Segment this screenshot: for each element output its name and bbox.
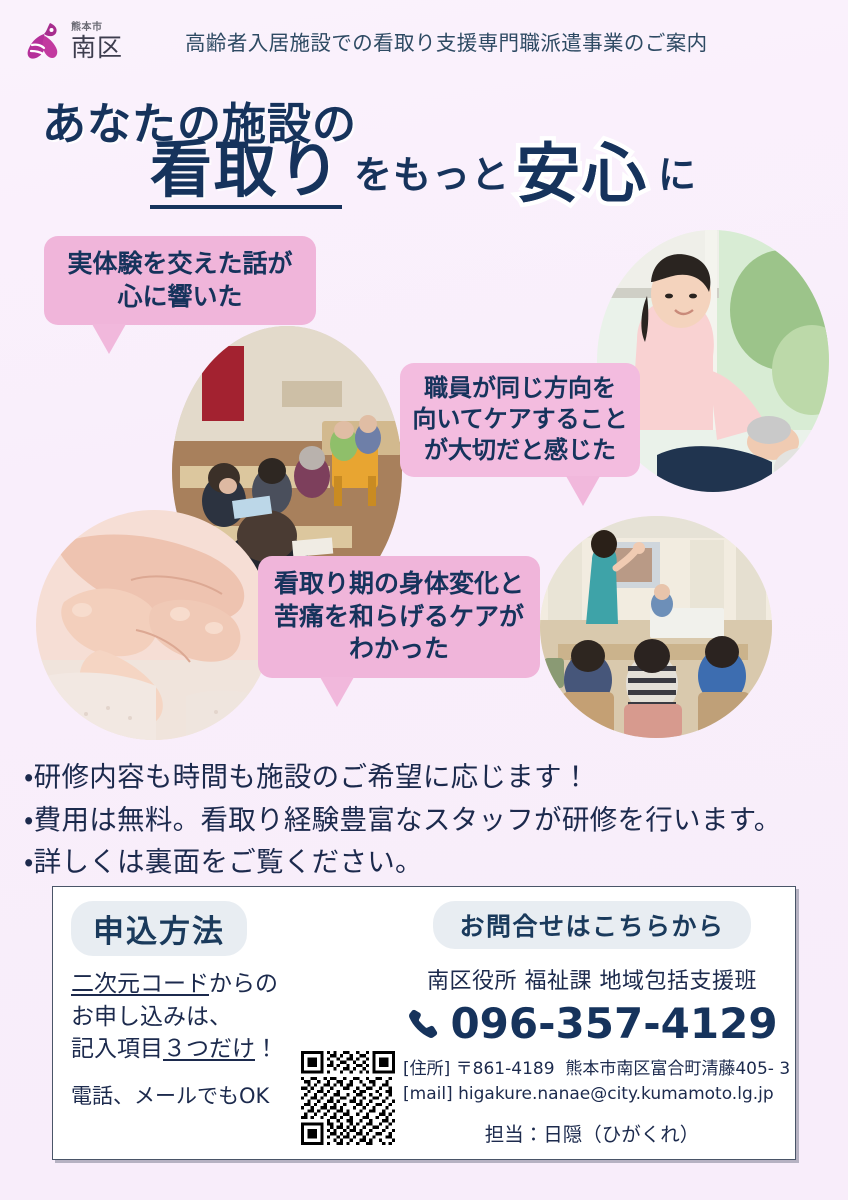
- address-line: [住所] 〒861-4189 熊本市南区富合町清藤405- 3: [403, 1057, 783, 1082]
- testimonial-bubble-1: 実体験を交えた話が 心に響いた: [44, 236, 316, 325]
- mail-label: [mail]: [403, 1084, 453, 1104]
- application-line-1: 二次元コードからの: [71, 968, 371, 1001]
- testimonial-text-2: 職員が同じ方向を 向いてケアすること が大切だと感じた: [412, 374, 627, 464]
- poster-header: 熊本市 南区 高齢者入居施設での看取り支援専門職派遣事業のご案内: [0, 0, 848, 82]
- bubble-tail-1: [92, 324, 126, 354]
- application-line-1-rest: からの: [209, 971, 278, 997]
- qr-code-icon: [300, 1051, 396, 1145]
- header-title: 高齢者入居施設での看取り支援専門職派遣事業のご案内: [185, 26, 708, 56]
- testimonial-bubble-3: 看取り期の身体変化と 苦痛を和らげるケアが わかった: [258, 556, 540, 678]
- benefit-item-3: ・詳しくは裏面をご覧ください。: [24, 841, 834, 884]
- testimonial-text-1: 実体験を交えた話が 心に響いた: [67, 249, 292, 311]
- email-address[interactable]: higakure.nanae@city.kumamoto.lg.jp: [458, 1084, 774, 1104]
- logo-ward-label: 南区: [71, 35, 123, 60]
- poster-root: 熊本市 南区 高齢者入居施設での看取り支援専門職派遣事業のご案内 あなたの施設の…: [0, 0, 848, 1200]
- headline-emphasis-mitori: 看取り: [150, 139, 342, 209]
- application-line-2: お申し込みは、: [71, 1001, 371, 1034]
- benefit-item-1: ・研修内容も時間も施設のご希望に応じます！: [24, 756, 834, 799]
- application-line-3-prefix: 記入項目: [71, 1036, 163, 1062]
- bubble-tail-3: [320, 677, 354, 707]
- photo-collage: 実体験を交えた話が 心に響いた 職員が同じ方向を 向いてケアすること が大切だと…: [0, 228, 848, 748]
- photo-lecture: [540, 516, 772, 738]
- headline-suffix: に: [658, 144, 696, 199]
- application-line-3-suffix: ！: [255, 1036, 278, 1062]
- benefit-item-2: ・費用は無料。看取り経験豊富なスタッフが研修を行います。: [24, 799, 834, 842]
- contact-department: 南区役所 福祉課 地域包括支援班: [401, 963, 783, 995]
- kumamoto-minami-ward-logo-icon: [22, 19, 64, 63]
- benefits-list: ・研修内容も時間も施設のご希望に応じます！ ・費用は無料。看取り経験豊富なスタッ…: [24, 756, 834, 884]
- postal-code: 〒861-4189: [456, 1059, 555, 1079]
- logo-city-label: 熊本市: [71, 23, 123, 33]
- address-block: [住所] 〒861-4189 熊本市南区富合町清藤405- 3 [mail] h…: [401, 1057, 783, 1106]
- email-line: [mail] higakure.nanae@city.kumamoto.lg.j…: [403, 1082, 783, 1107]
- telephone-number[interactable]: 096-357-4129: [450, 1003, 777, 1045]
- address-label: [住所]: [403, 1059, 450, 1079]
- application-contact-box: 申込方法 二次元コードからの お申し込みは、 記入項目３つだけ！ 電話、メールで…: [52, 886, 796, 1160]
- street-address: 熊本市南区富合町清藤405- 3: [565, 1059, 790, 1079]
- ward-logo: 熊本市 南区: [22, 19, 123, 63]
- testimonial-text-3: 看取り期の身体変化と 苦痛を和らげるケアが わかった: [274, 569, 524, 663]
- application-line-3-emphasis: ３つだけ: [163, 1036, 255, 1062]
- qr-code[interactable]: [296, 1047, 400, 1149]
- bubble-tail-2: [566, 476, 600, 506]
- headline-line-2: 看取り をもっと 安心 に: [150, 139, 696, 209]
- contact-heading: お問合せはこちらから: [433, 901, 750, 949]
- qr-code-link-text[interactable]: 二次元コード: [71, 971, 209, 997]
- phone-icon: [406, 1007, 440, 1041]
- telephone-row[interactable]: 096-357-4129: [401, 1003, 783, 1045]
- contact-section: お問合せはこちらから 南区役所 福祉課 地域包括支援班 096-357-4129…: [401, 901, 783, 1147]
- application-heading: 申込方法: [71, 901, 247, 956]
- headline-block: あなたの施設の 看取り をもっと 安心 に: [0, 84, 848, 229]
- testimonial-bubble-2: 職員が同じ方向を 向いてケアすること が大切だと感じた: [400, 363, 640, 477]
- headline-connector: をもっと: [354, 144, 510, 199]
- photo-hands: [36, 510, 272, 740]
- headline-emphasis-anshin: 安心: [516, 143, 648, 207]
- staff-contact: 担当：日隠（ひがくれ）: [401, 1118, 783, 1147]
